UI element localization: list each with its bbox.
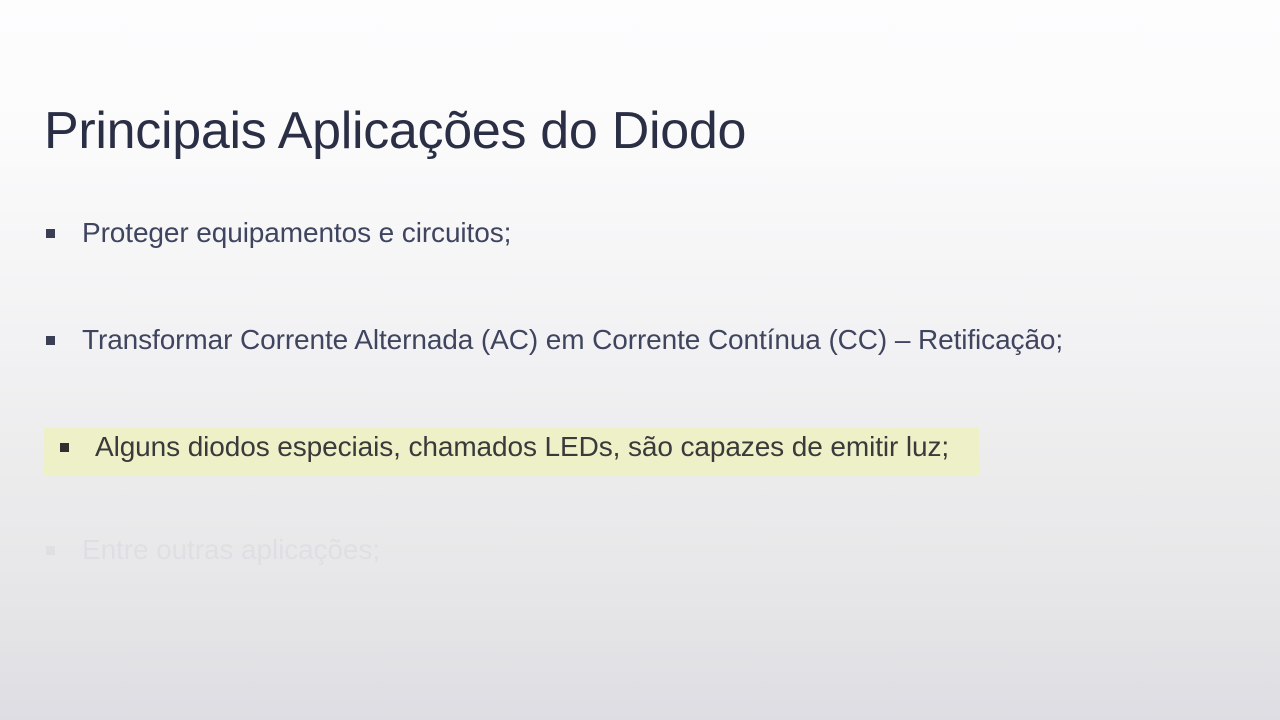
presentation-slide: Principais Aplicações do Diodo Proteger … <box>0 0 1280 720</box>
slide-body-list: Proteger equipamentos e circuitos; Trans… <box>44 205 1254 629</box>
bullet-item-3: Alguns diodos especiais, chamados LEDs, … <box>44 419 1254 474</box>
square-bullet-icon <box>46 336 55 345</box>
bullet-item-3-label: Alguns diodos especiais, chamados LEDs, … <box>95 430 949 464</box>
square-bullet-icon <box>46 229 55 238</box>
bullet-item-1: Proteger equipamentos e circuitos; <box>44 205 1254 260</box>
bullet-item-2: Transformar Corrente Alternada (AC) em C… <box>44 312 1254 367</box>
square-bullet-icon <box>46 546 55 555</box>
bullet-item-4-label: Entre outras aplicações; <box>82 533 380 567</box>
square-bullet-icon <box>60 443 69 452</box>
bullet-item-2-label: Transformar Corrente Alternada (AC) em C… <box>82 323 1063 357</box>
bullet-item-1-label: Proteger equipamentos e circuitos; <box>82 216 511 250</box>
slide-title: Principais Aplicações do Diodo <box>44 100 1224 162</box>
bullet-item-4: Entre outras aplicações; <box>44 522 1254 577</box>
